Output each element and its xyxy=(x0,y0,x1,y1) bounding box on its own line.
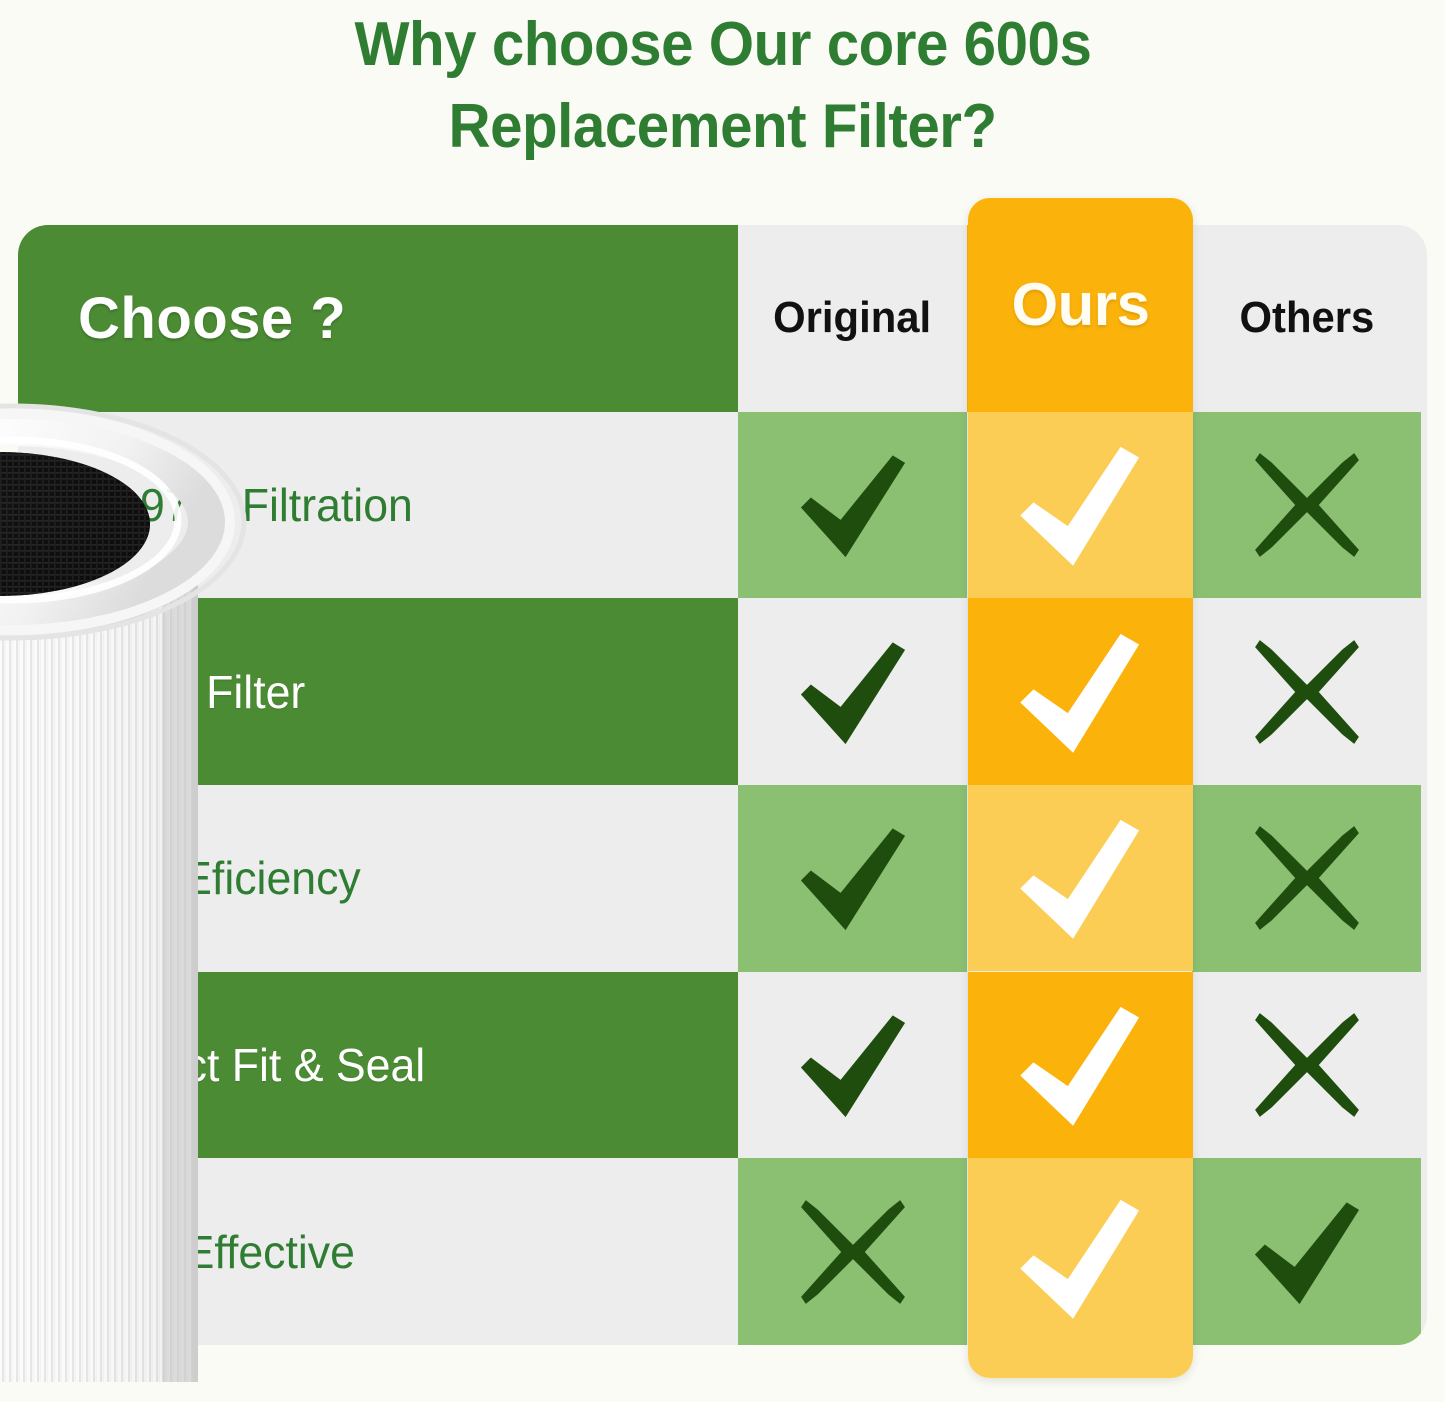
table-header-row: Choose ? Original Others xyxy=(18,225,1427,412)
cross-icon xyxy=(1248,446,1366,564)
header-cell-original: Original xyxy=(738,225,967,412)
check-icon xyxy=(1011,1192,1151,1324)
ours-cell-row-2 xyxy=(968,598,1193,785)
cell-others xyxy=(1192,412,1421,599)
check-icon xyxy=(1241,1190,1373,1314)
header-cell-others: Others xyxy=(1192,225,1421,412)
row-label-cell: High Eficiency xyxy=(18,785,738,972)
ours-header-cell: Ours xyxy=(968,198,1193,412)
table-row: 99.97% Filtration xyxy=(18,412,1427,599)
header-feature-label: Choose ? xyxy=(78,285,346,352)
check-icon xyxy=(1011,999,1151,1131)
cell-others xyxy=(1192,785,1421,972)
page-title: Why choose Our core 600s Replacement Fil… xyxy=(0,0,1445,190)
table-row: HEPA Filter xyxy=(18,598,1427,785)
table-row: Cost-Effective xyxy=(18,1158,1427,1345)
header-original-label: Original xyxy=(774,293,932,343)
row-feature-label: Perfect Fit & Seal xyxy=(78,1038,425,1092)
cell-original xyxy=(738,412,967,599)
cross-icon xyxy=(794,1193,912,1311)
cell-others xyxy=(1192,598,1421,785)
cell-original xyxy=(738,972,967,1159)
check-icon xyxy=(787,630,919,754)
cell-original xyxy=(738,598,967,785)
cell-others xyxy=(1192,972,1421,1159)
check-icon xyxy=(787,443,919,567)
ours-cell-row-3 xyxy=(968,785,1193,972)
check-icon xyxy=(787,1003,919,1127)
ours-cell-row-1 xyxy=(968,412,1193,599)
check-icon xyxy=(787,816,919,940)
cell-others xyxy=(1192,1158,1421,1345)
cross-icon xyxy=(1248,1006,1366,1124)
cross-icon xyxy=(1248,633,1366,751)
header-others-label: Others xyxy=(1239,293,1374,343)
check-icon xyxy=(1011,812,1151,944)
table-row: High Eficiency xyxy=(18,785,1427,972)
ours-highlight-column[interactable]: Ours xyxy=(968,198,1193,1378)
ours-cell-row-5 xyxy=(968,1158,1193,1358)
ours-header-label: Ours xyxy=(1011,270,1149,339)
row-label-cell: HEPA Filter xyxy=(18,598,738,785)
cell-original xyxy=(738,785,967,972)
row-feature-label: HEPA Filter xyxy=(78,665,305,719)
check-icon xyxy=(1011,439,1151,571)
table-row: Perfect Fit & Seal xyxy=(18,972,1427,1159)
page-title-line-2: Replacement Filter? xyxy=(448,86,996,168)
page-title-line-1: Why choose Our core 600s xyxy=(354,4,1091,86)
check-icon xyxy=(1011,626,1151,758)
row-label-cell: 99.97% Filtration xyxy=(18,412,738,599)
row-label-cell: Perfect Fit & Seal xyxy=(18,972,738,1159)
ours-cell-row-4 xyxy=(968,972,1193,1159)
header-cell-feature: Choose ? xyxy=(18,225,738,412)
cell-original xyxy=(738,1158,967,1345)
row-feature-label: Cost-Effective xyxy=(78,1225,355,1279)
row-feature-label: High Eficiency xyxy=(78,851,361,905)
cross-icon xyxy=(1248,819,1366,937)
row-label-cell: Cost-Effective xyxy=(18,1158,738,1345)
comparison-table: Choose ? Original Others 99.97% Filtrati… xyxy=(18,225,1427,1345)
row-feature-label: 99.97% Filtration xyxy=(78,478,413,532)
